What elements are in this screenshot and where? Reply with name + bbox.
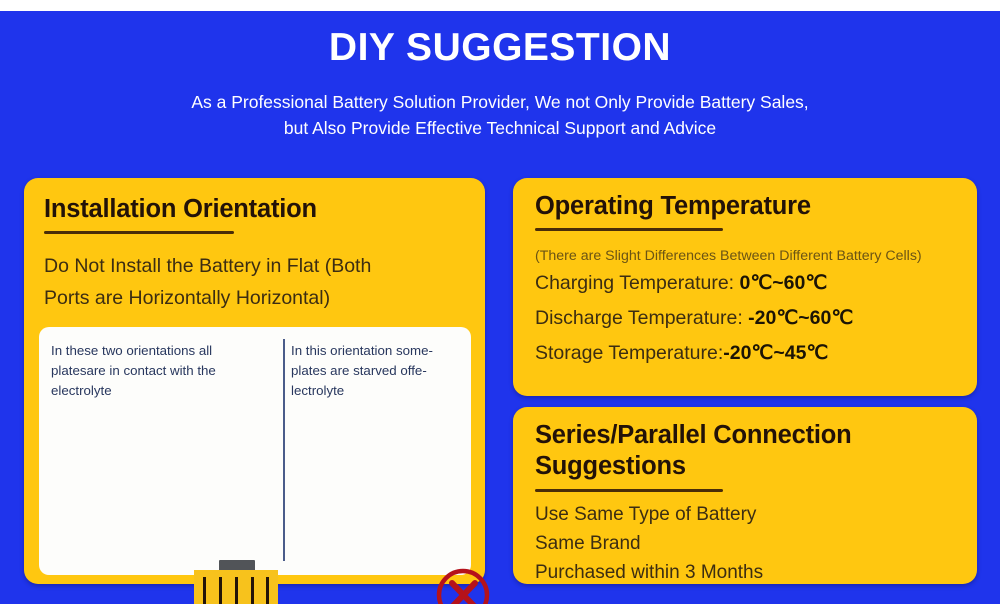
x-mark-icon xyxy=(434,566,492,604)
temperature-row-charging-label: Charging Temperature: xyxy=(535,272,740,294)
installation-title-underline xyxy=(44,231,234,234)
temperature-title-underline xyxy=(535,228,723,231)
temperature-row-storage-label: Storage Temperature: xyxy=(535,342,723,364)
page-subtitle: As a Professional Battery Solution Provi… xyxy=(100,89,900,141)
temperature-row-discharge-label: Discharge Temperature: xyxy=(535,307,748,329)
page-subtitle-line-1: As a Professional Battery Solution Provi… xyxy=(100,89,900,115)
page-subtitle-line-2: but Also Provide Effective Technical Sup… xyxy=(100,115,900,141)
series-suggestion-item: Use Same Type of Battery xyxy=(535,504,756,526)
temperature-row-discharge: Discharge Temperature: -20℃~60℃ xyxy=(535,306,853,330)
series-title: Series/Parallel Connection Suggestions xyxy=(535,420,955,482)
battery-upright-large-icon xyxy=(194,570,278,604)
series-suggestion-item: Purchased within 3 Months xyxy=(535,562,763,584)
illustration-caption-right: In this orientation some-plates are star… xyxy=(291,341,456,401)
card-series-parallel-connection: Series/Parallel Connection Suggestions U… xyxy=(513,407,977,584)
installation-body: Do Not Install the Battery in Flat (Both… xyxy=(44,250,464,314)
temperature-row-charging: Charging Temperature: 0℃~60℃ xyxy=(535,271,827,295)
series-suggestion-item: Same Brand xyxy=(535,533,641,555)
temperature-note: (There are Slight Differences Between Di… xyxy=(535,248,960,264)
temperature-row-charging-value: 0℃~60℃ xyxy=(740,272,828,294)
installation-illustration-panel: In these two orientations all platesare … xyxy=(39,327,471,575)
temperature-row-discharge-value: -20℃~60℃ xyxy=(748,307,853,329)
installation-body-line-1: Do Not Install the Battery in Flat (Both xyxy=(44,250,464,282)
temperature-row-storage-value: -20℃~45℃ xyxy=(723,342,828,364)
diy-suggestion-infographic: DIY SUGGESTION As a Professional Battery… xyxy=(0,11,1000,604)
series-title-underline xyxy=(535,489,723,492)
page-title: DIY SUGGESTION xyxy=(0,25,1000,71)
temperature-row-storage: Storage Temperature:-20℃~45℃ xyxy=(535,341,828,365)
card-installation-orientation: Installation Orientation Do Not Install … xyxy=(24,178,485,584)
installation-body-line-2: Ports are Horizontally Horizontal) xyxy=(44,282,464,314)
temperature-title: Operating Temperature xyxy=(535,191,811,222)
illustration-caption-left: In these two orientations all platesare … xyxy=(51,341,266,401)
illustration-divider xyxy=(283,339,285,561)
card-operating-temperature: Operating Temperature (There are Slight … xyxy=(513,178,977,396)
installation-title: Installation Orientation xyxy=(44,194,317,225)
